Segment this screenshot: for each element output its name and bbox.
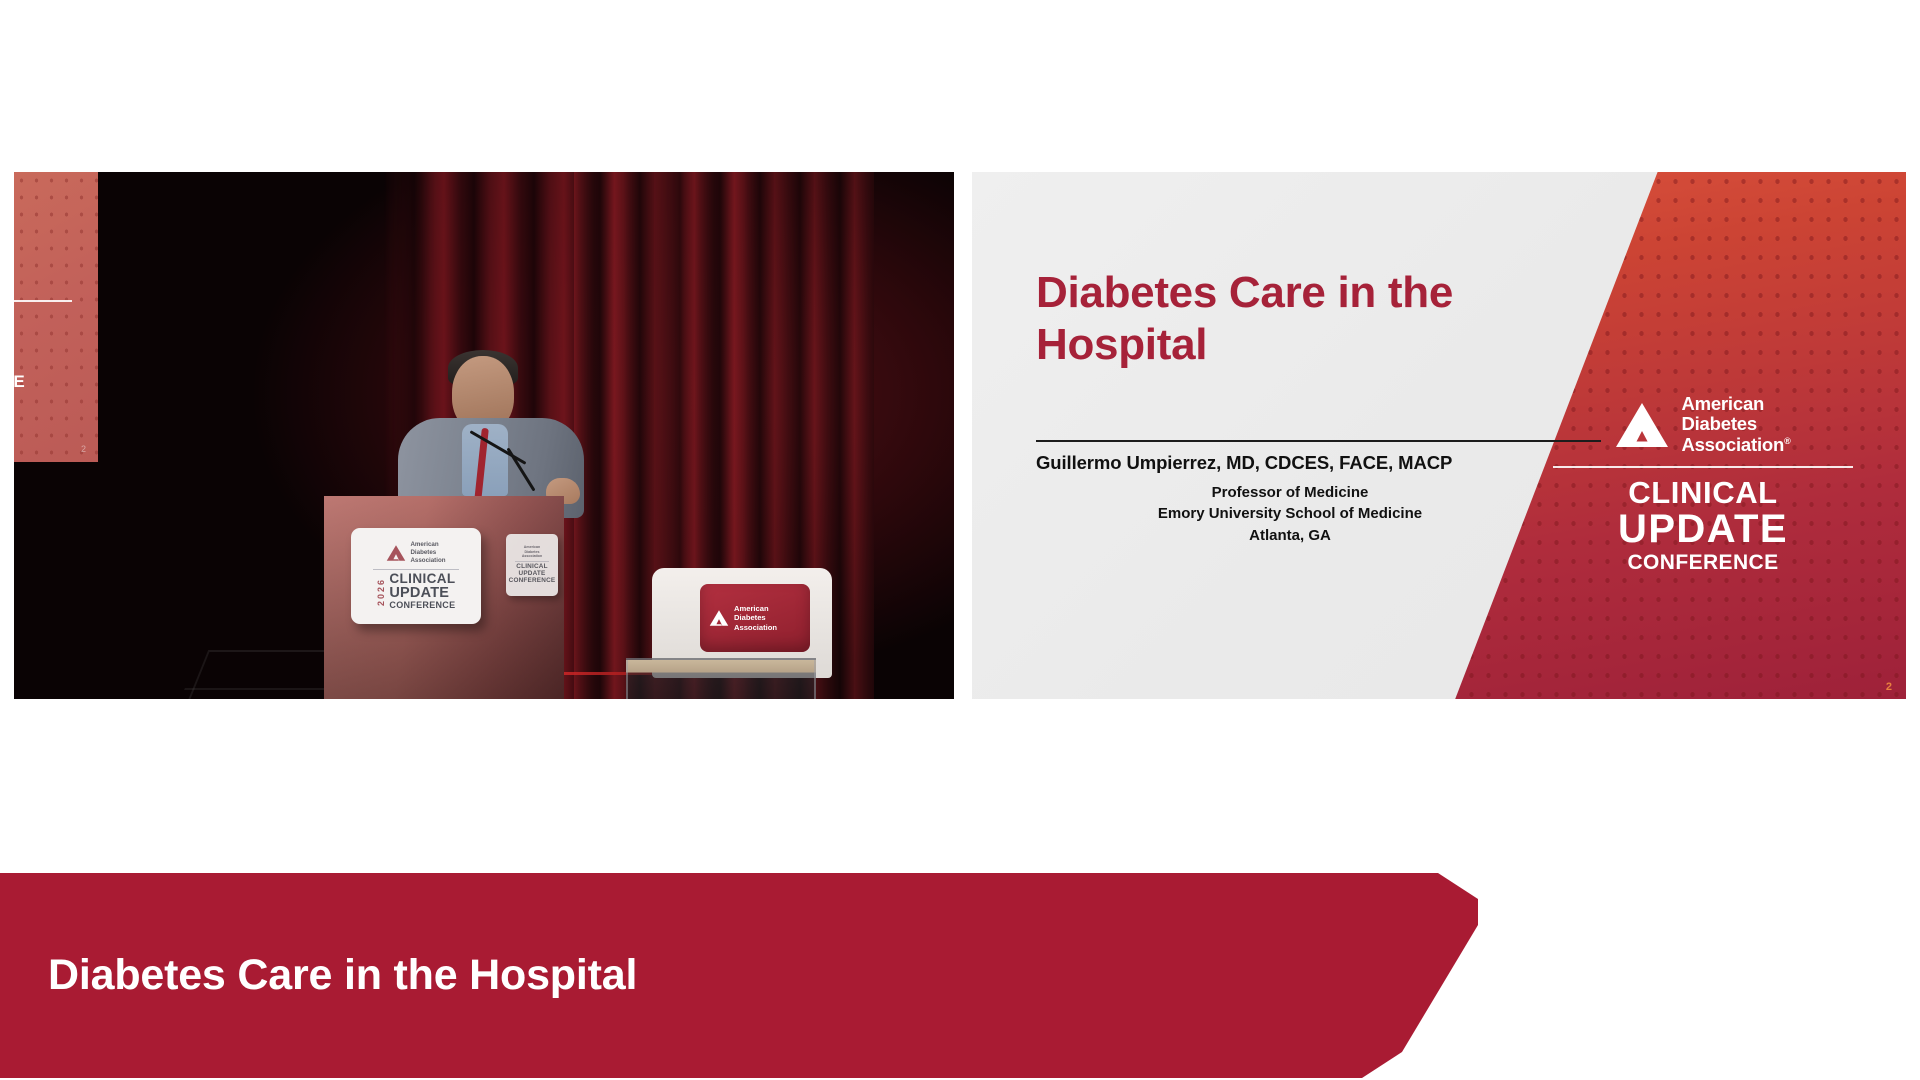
slide-ada-conference-logo: American Diabetes Association® CLINICAL … <box>1538 394 1868 575</box>
projected-event-text: AL TE <box>14 308 96 361</box>
pillow-line2: Diabetes <box>734 613 777 622</box>
slide-title: Diabetes Care in the Hospital <box>1036 267 1596 371</box>
podium: American Diabetes Association 2026 CLINI… <box>324 496 564 699</box>
conference-line1: CLINICAL <box>1618 477 1788 508</box>
projected-event-line1: AL <box>14 308 96 335</box>
speaker-video-panel[interactable]: an es ation. AL TE NCE 2 <box>14 172 954 699</box>
podium-sign-event-line1: CLINICAL <box>389 572 455 586</box>
slide-number: 2 <box>1886 681 1892 693</box>
podium-sign-org-line2: Diabetes <box>410 549 445 557</box>
ada-logo-wordmark: American Diabetes Association® <box>1681 394 1790 455</box>
registered-trademark-icon: ® <box>1784 436 1790 446</box>
ada-logo-row: American Diabetes Association® <box>1615 394 1790 455</box>
stage-side-table <box>626 658 816 699</box>
podium-sign-org-line3: Association <box>410 557 445 565</box>
ada-logo-line3: Association® <box>1681 435 1790 455</box>
conference-line3: CONFERENCE <box>1618 550 1788 575</box>
ada-logo-line1: American <box>1681 394 1790 414</box>
podium-sign-event-line3: CONFERENCE <box>389 601 455 611</box>
ada-triangle-icon <box>709 609 729 627</box>
podium-sign-org-line1: American <box>410 541 445 549</box>
projected-event-line3: NCE <box>14 372 98 392</box>
projected-org-line3: ation. <box>14 249 90 264</box>
slide-title-line1: Diabetes Care in the <box>1036 267 1596 319</box>
pillow-line3: Association <box>734 623 777 632</box>
podium-side-org-line3: Association <box>522 554 542 559</box>
slide-speaker-affiliation: Professor of Medicine Emory University S… <box>1036 482 1544 546</box>
podium-front-sign: American Diabetes Association 2026 CLINI… <box>351 528 481 624</box>
speaker-figure <box>400 350 580 510</box>
presentation-stage: an es ation. AL TE NCE 2 <box>0 0 1920 1080</box>
podium-sign-event-line2: UPDATE <box>389 586 455 601</box>
ada-logo-line3-text: Association <box>1681 434 1784 455</box>
ada-triangle-icon <box>386 544 406 562</box>
podium-sign-event: 2026 CLINICAL UPDATE CONFERENCE <box>376 572 455 611</box>
pillow-line1: American <box>734 604 777 613</box>
affiliation-line1: Professor of Medicine <box>1036 482 1544 503</box>
affiliation-line3: Atlanta, GA <box>1036 525 1544 546</box>
branded-pillow: American Diabetes Association <box>700 584 810 652</box>
ada-triangle-icon <box>1615 402 1669 448</box>
pillow-logo-text: American Diabetes Association <box>734 604 777 632</box>
presentation-slide[interactable]: Diabetes Care in the Hospital Guillermo … <box>972 172 1906 699</box>
ada-logo-divider <box>1553 466 1853 468</box>
conference-line2: UPDATE <box>1618 508 1788 550</box>
conference-wordmark: CLINICAL UPDATE CONFERENCE <box>1618 477 1788 575</box>
affiliation-line2: Emory University School of Medicine <box>1036 503 1544 524</box>
podium-sign-event-words: CLINICAL UPDATE CONFERENCE <box>389 572 455 611</box>
podium-side-sign: American Diabetes Association CLINICAL U… <box>506 534 558 596</box>
slide-title-divider <box>1036 440 1601 442</box>
podium-sign-org: American Diabetes Association <box>386 541 445 564</box>
slide-title-line2: Hospital <box>1036 319 1596 371</box>
podium-side-divider <box>515 561 549 562</box>
projected-event-line2: TE <box>14 335 96 362</box>
podium-sign-org-lines: American Diabetes Association <box>410 541 445 564</box>
bottom-title-banner: Diabetes Care in the Hospital <box>0 873 1480 1078</box>
projected-slide-org-text: an es ation. <box>14 220 90 264</box>
projected-slide-sliver: an es ation. AL TE NCE 2 <box>14 172 98 462</box>
projected-org-line1: an <box>14 220 90 235</box>
projected-org-line2: es <box>14 235 90 250</box>
projected-slide-number: 2 <box>81 444 86 454</box>
podium-sign-divider <box>373 569 459 570</box>
ada-logo-line2: Diabetes <box>1681 414 1790 434</box>
podium-sign-year: 2026 <box>376 578 386 606</box>
bottom-banner-title: Diabetes Care in the Hospital <box>48 951 637 1000</box>
projected-slide-rule <box>14 300 72 302</box>
podium-side-event-line3: CONFERENCE <box>509 578 556 585</box>
